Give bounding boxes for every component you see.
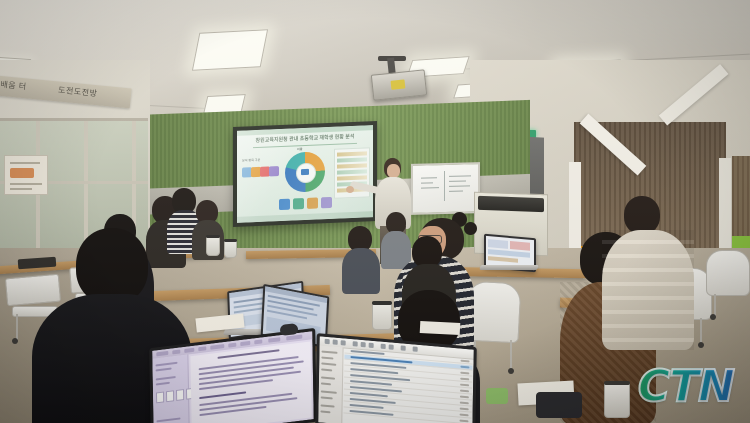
wall-poster: [4, 155, 48, 195]
nook-back-panel: [732, 156, 750, 236]
whiteboard: [411, 162, 480, 215]
ctn-watermark: CTN: [638, 365, 734, 409]
donut-chart: [285, 151, 325, 193]
slide-icon-chips: [279, 197, 335, 211]
puffer-head: [624, 196, 660, 234]
cup-back-2: [224, 240, 237, 258]
green-object: [486, 388, 508, 404]
presenter-face: [387, 164, 400, 178]
projector-status-label: [391, 79, 406, 89]
projection-screen: 창원교육지원청 관내 초등학교 재학생 현황 분석 분석 항목 구분 비율: [233, 121, 377, 227]
cup-center: [372, 302, 392, 330]
hair-bun-right: [464, 222, 477, 235]
donut-label-top: 비율: [297, 147, 303, 151]
donut-center-icon: [301, 169, 309, 175]
document-editor-ui[interactable]: [152, 331, 314, 423]
slide-left-group: 분석 항목 구분: [242, 163, 278, 181]
wall-sign-text-1: 배움 터: [0, 79, 27, 92]
puffer-quilting: [602, 230, 694, 350]
slide: 창원교육지원청 관내 초등학교 재학생 현황 분석 분석 항목 구분 비율: [237, 125, 373, 223]
wall-sign-text-2: 도전도전방: [58, 85, 98, 100]
black-pouch: [536, 392, 582, 418]
mail-list-ui[interactable]: [318, 336, 473, 423]
photo-frame: 배움 터 도전도전방 창원교육지원청 관내 초등학교 재학생 현황 분석 분석 …: [0, 0, 750, 423]
cup-right: [604, 382, 630, 418]
panel-light-1: [192, 29, 268, 71]
cup-back: [206, 236, 220, 256]
slide-left-caption: 분석 항목 구분: [242, 158, 260, 163]
paper-stack-center: [420, 321, 461, 335]
fg-head: [76, 228, 148, 304]
presenter-hand: [346, 186, 354, 193]
